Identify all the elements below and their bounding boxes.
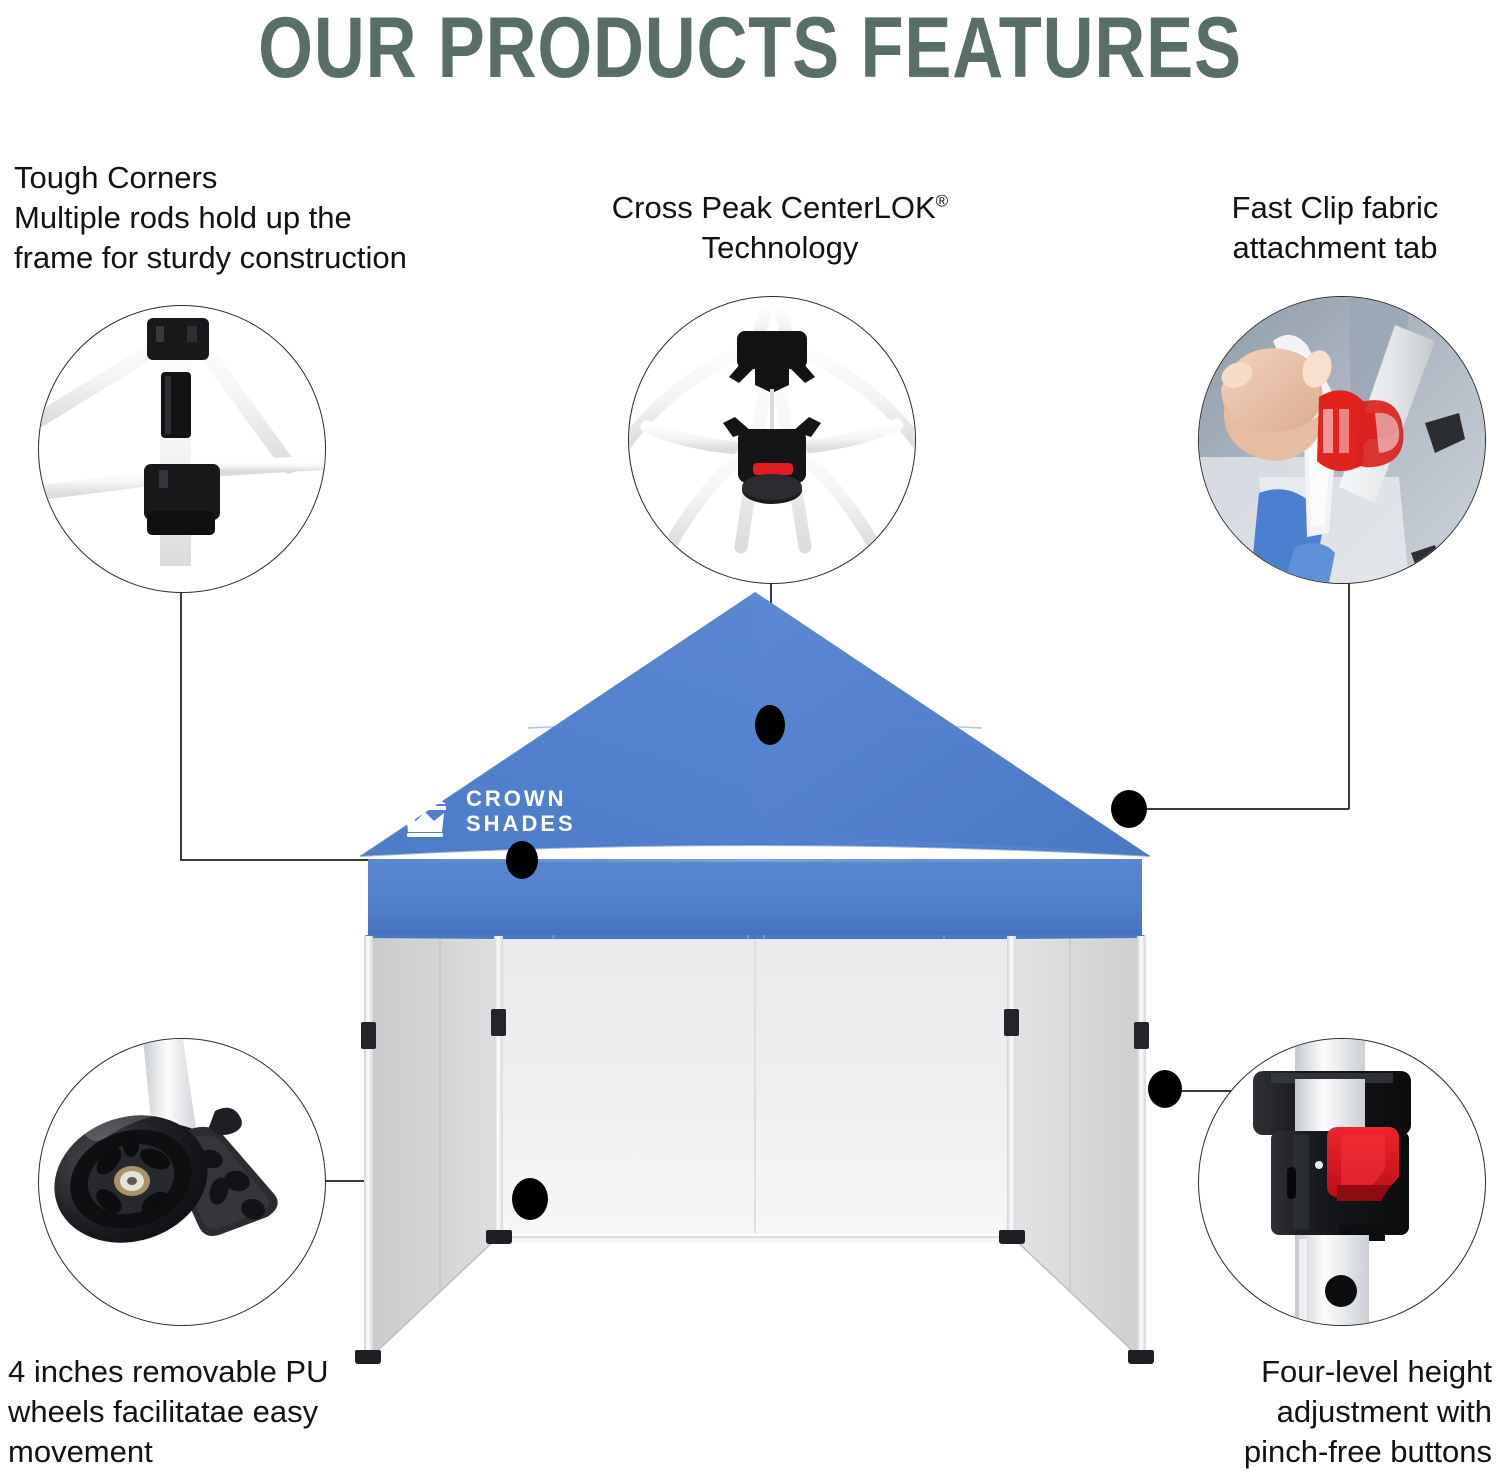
fast-clip-photo-detail (1199, 297, 1485, 583)
tent-leg-back-right (1007, 936, 1016, 1236)
feature-caption-height-adjustment: Four-level height adjustment with pinch-… (1130, 1352, 1492, 1472)
tent-leg-back-left (494, 936, 503, 1236)
centerlok-heading: Cross Peak CenterLOK (612, 190, 936, 225)
infographic-canvas: OUR PRODUCTS FEATURES Tough Corners Mult… (0, 0, 1500, 1481)
leader-line-tough-corners-vertical (180, 588, 182, 860)
callout-dot-fast-clip (1111, 790, 1147, 828)
sidewall-back-seams (498, 939, 1012, 1243)
brand-logo-text: CROWNSHADES (466, 786, 576, 836)
canopy-valance (368, 859, 1142, 939)
canopy-tent-illustration: CROWNSHADES (330, 588, 1180, 1358)
corner-bracket-detail (39, 306, 325, 592)
height-adjust-slider[interactable] (1004, 1009, 1019, 1036)
brand-logo: CROWNSHADES (396, 784, 596, 842)
feature-detail-height-adjustment (1198, 1038, 1486, 1326)
height-adjust-slider[interactable] (1134, 1022, 1149, 1049)
centerlok-hub-detail (629, 297, 915, 583)
brand-name-line2: SHADES (466, 811, 576, 836)
callout-dot-height-adjustment (1148, 1070, 1182, 1108)
feature-detail-cross-peak-centerlok (628, 296, 916, 584)
centerlok-body: Technology (702, 230, 859, 265)
feature-caption-fast-clip: Fast Clip fabric attachment tab (1180, 188, 1490, 268)
tent-foot (1128, 1350, 1154, 1364)
callout-dot-centerlok (755, 705, 785, 745)
tent-foot (486, 1230, 512, 1244)
feature-caption-pu-wheels: 4 inches removable PU wheels facilitatae… (8, 1352, 428, 1472)
height-adjust-slider[interactable] (361, 1022, 376, 1049)
feature-detail-tough-corners (38, 305, 326, 593)
pu-wheel-detail (39, 1039, 325, 1325)
tent-foot (355, 1350, 381, 1364)
tent-leg-front-left (364, 936, 373, 1356)
page-title: OUR PRODUCTS FEATURES (135, 2, 1365, 94)
tent-foot (999, 1230, 1025, 1244)
leader-line-fast-clip-vertical (1348, 580, 1350, 809)
feature-detail-pu-wheels (38, 1038, 326, 1326)
sidewall-left (368, 932, 499, 1362)
feature-caption-cross-peak-centerlok: Cross Peak CenterLOK®Technology (560, 188, 1000, 268)
height-button-detail (1199, 1039, 1485, 1325)
registered-trademark-icon: ® (936, 192, 949, 211)
crown-canopy-mark (396, 788, 454, 838)
height-adjust-slider[interactable] (491, 1009, 506, 1036)
brand-name-line1: CROWN (466, 786, 567, 811)
sidewall-right (1011, 932, 1142, 1362)
callout-dot-pu-wheels (512, 1178, 548, 1220)
callout-dot-tough-corners (506, 841, 538, 879)
tent-leg-front-right (1137, 936, 1146, 1356)
feature-detail-fast-clip (1198, 296, 1486, 584)
feature-caption-tough-corners: Tough Corners Multiple rods hold up the … (14, 158, 554, 278)
